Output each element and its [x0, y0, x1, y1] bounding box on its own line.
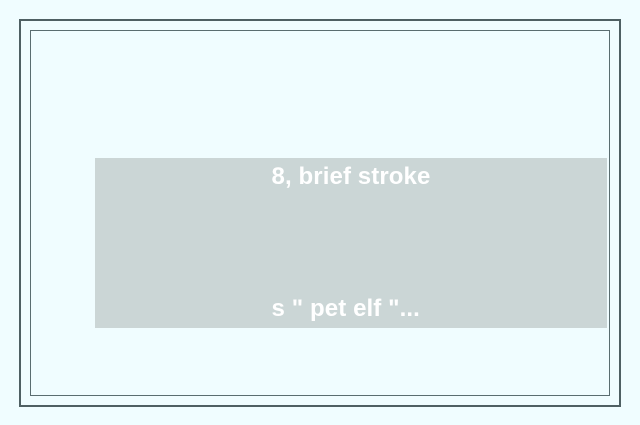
image-placeholder-panel: 8, brief stroke s " pet elf "...	[95, 158, 607, 328]
caption-line-1: 8, brief stroke	[272, 155, 431, 199]
caption-block: 8, brief stroke s " pet elf "...	[272, 67, 431, 419]
inner-card-frame: 8, brief stroke s " pet elf "...	[30, 30, 610, 396]
caption-line-2: s " pet elf "...	[272, 287, 431, 331]
outer-card-frame: 8, brief stroke s " pet elf "...	[19, 19, 621, 407]
